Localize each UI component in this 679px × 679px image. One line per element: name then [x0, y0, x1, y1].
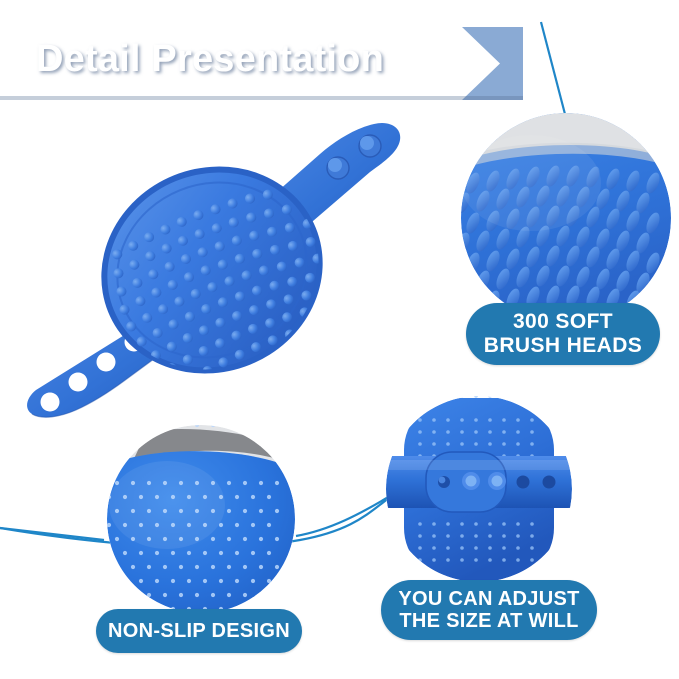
header-banner-shadow: [0, 96, 523, 100]
callout-label-adjustable-strap: YOU CAN ADJUST THE SIZE AT WILL: [381, 580, 597, 640]
brush-heads-line-1: 300 SOFT: [513, 310, 613, 334]
non-slip-line-1: NON-SLIP DESIGN: [108, 620, 290, 642]
detail-presentation-page: Detail Presentation: [0, 0, 679, 679]
adjust-line-1: YOU CAN ADJUST: [398, 588, 579, 610]
product-main-image: [20, 110, 420, 430]
adjust-line-2: THE SIZE AT WILL: [399, 610, 578, 632]
page-title: Detail Presentation: [36, 38, 384, 81]
callout-label-non-slip: NON-SLIP DESIGN: [96, 609, 302, 653]
brush-heads-line-2: BRUSH HEADS: [484, 334, 642, 358]
callout-label-brush-heads: 300 SOFT BRUSH HEADS: [466, 303, 660, 365]
callout-adjustable-strap-image: [386, 396, 572, 582]
callout-non-slip-image: [107, 425, 295, 613]
callout-brush-heads-image: [461, 113, 671, 323]
